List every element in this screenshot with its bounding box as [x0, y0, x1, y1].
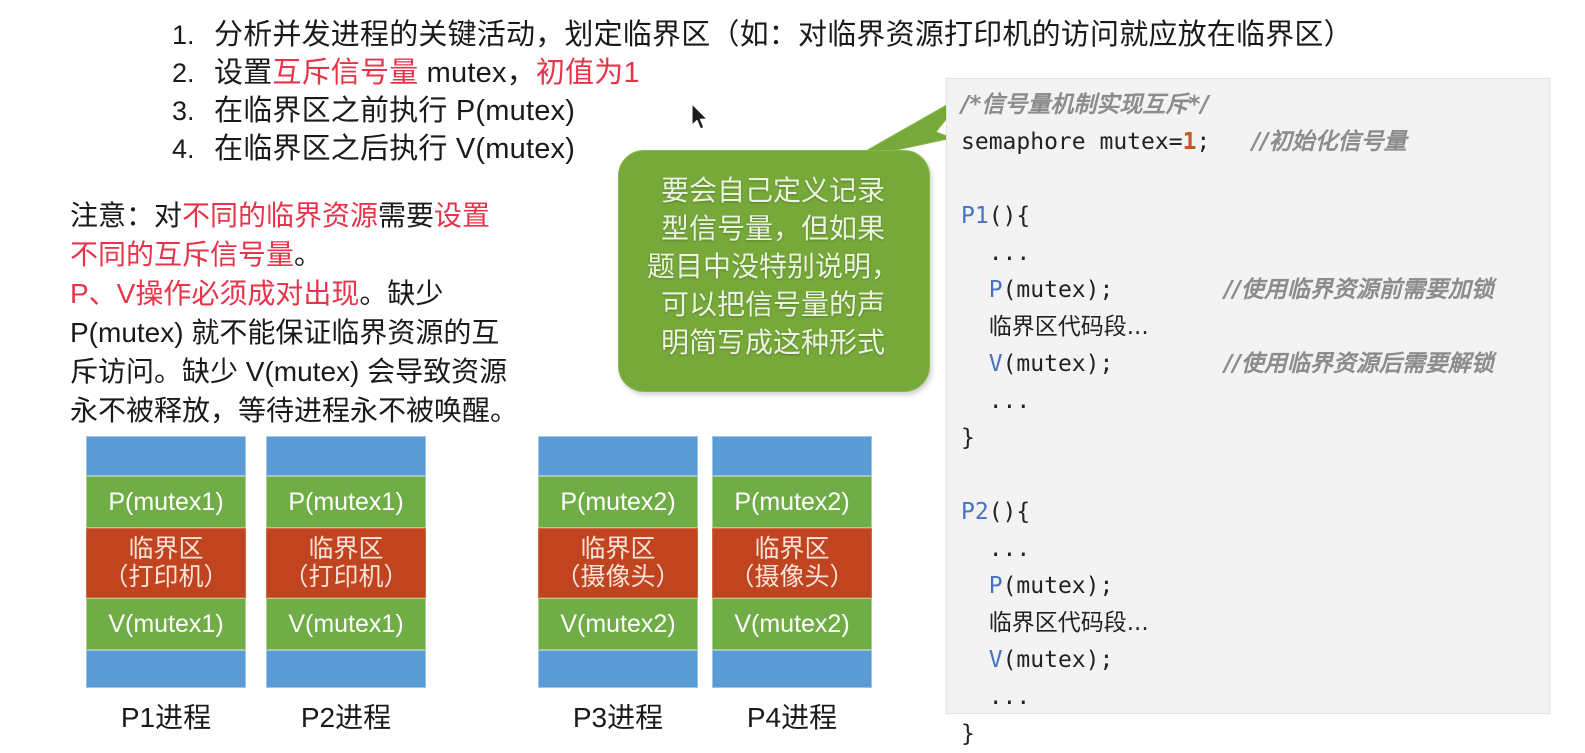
code-line-8: V(mutex); //使用临界资源后需要解锁 [961, 346, 1543, 383]
code-line-4: P1(){ [961, 198, 1543, 235]
step-text: 分析并发进程的关键活动，划定临界区（如：对临界资源打印机的访问就应放在临界区） [214, 16, 1353, 54]
code-line-16: V(mutex); [961, 642, 1543, 679]
step-item-3: 3.在临界区之前执行 P(mutex) [172, 92, 942, 130]
code-line-14: P(mutex); [961, 568, 1543, 605]
process-caption: P4进程 [712, 696, 872, 736]
step-number: 1. [172, 16, 214, 54]
step-text: 设置互斥信号量 mutex，初值为1 [214, 54, 640, 92]
callout-line-1: 要会自己定义记录 [618, 172, 928, 210]
step-number: 4. [172, 130, 214, 168]
process-band-green: P(mutex2) [538, 476, 698, 528]
bottom-watermark [1255, 731, 1585, 750]
process-band-blue [538, 436, 698, 476]
code-line-12: P2(){ [961, 494, 1543, 531]
code-line-9: ... [961, 383, 1543, 420]
process-band-green: V(mutex2) [538, 598, 698, 650]
band-label: V(mutex1) [108, 610, 223, 638]
process-band-blue [538, 650, 698, 688]
process-band-blue [712, 436, 872, 476]
process-column-1: P(mutex1)临界区（打印机）V(mutex1)P1进程 [86, 436, 246, 688]
code-line-13: ... [961, 531, 1543, 568]
band-label: 临界区（摄像头） [555, 535, 680, 591]
process-band-green: V(mutex2) [712, 598, 872, 650]
process-band-blue [712, 650, 872, 688]
band-label: P(mutex1) [288, 488, 403, 516]
process-caption: P1进程 [86, 696, 246, 736]
band-label: 临界区（摄像头） [729, 535, 854, 591]
code-line-15: 临界区代码段... [961, 605, 1543, 642]
process-band-green: V(mutex1) [86, 598, 246, 650]
process-band-blue [266, 650, 426, 688]
note-paragraph: 注意：对不同的临界资源需要设置不同的互斥信号量。P、V操作必须成对出现。缺少P(… [70, 196, 590, 430]
code-line-11 [961, 457, 1543, 494]
process-diagram: P(mutex1)临界区（打印机）V(mutex1)P1进程P(mutex1)临… [0, 436, 940, 736]
band-label: P(mutex2) [734, 488, 849, 516]
step-text: 在临界区之前执行 P(mutex) [214, 92, 575, 130]
process-column-2: P(mutex1)临界区（打印机）V(mutex1)P2进程 [266, 436, 426, 688]
process-band-crit: 临界区（摄像头） [712, 528, 872, 598]
step-item-1: 1.分析并发进程的关键活动，划定临界区（如：对临界资源打印机的访问就应放在临界区… [172, 16, 942, 54]
code-line-1: /*信号量机制实现互斥*/ [961, 87, 1543, 124]
code-line-10: } [961, 420, 1543, 457]
step-item-2: 2.设置互斥信号量 mutex，初值为1 [172, 54, 942, 92]
band-label: 临界区（打印机） [283, 535, 408, 591]
green-callout-bubble: 要会自己定义记录型信号量，但如果题目中没特别说明，可以把信号量的声明简写成这种形… [618, 150, 928, 390]
callout-line-4: 可以把信号量的声 [618, 286, 928, 324]
process-band-crit: 临界区（打印机） [266, 528, 426, 598]
step-text: 在临界区之后执行 V(mutex) [214, 130, 575, 168]
slide-canvas: 1.分析并发进程的关键活动，划定临界区（如：对临界资源打印机的访问就应放在临界区… [0, 0, 1585, 750]
code-line-6: P(mutex); //使用临界资源前需要加锁 [961, 272, 1543, 309]
band-label: V(mutex2) [734, 610, 849, 638]
callout-line-3: 题目中没特别说明， [618, 248, 928, 286]
code-line-2: semaphore mutex=1; //初始化信号量 [961, 124, 1543, 161]
code-line-3 [961, 161, 1543, 198]
process-band-green: P(mutex1) [86, 476, 246, 528]
band-label: V(mutex2) [560, 610, 675, 638]
process-band-blue [266, 436, 426, 476]
note-line-4: P(mutex) 就不能保证临界资源的互 [70, 313, 590, 352]
process-band-green: P(mutex1) [266, 476, 426, 528]
band-label: P(mutex1) [108, 488, 223, 516]
process-band-crit: 临界区（摄像头） [538, 528, 698, 598]
code-panel: /*信号量机制实现互斥*/semaphore mutex=1; //初始化信号量… [946, 78, 1550, 714]
process-band-blue [86, 650, 246, 688]
code-line-17: ... [961, 679, 1543, 716]
callout-line-2: 型信号量，但如果 [618, 210, 928, 248]
callout-text: 要会自己定义记录型信号量，但如果题目中没特别说明，可以把信号量的声明简写成这种形… [618, 172, 928, 362]
note-line-3: P、V操作必须成对出现。缺少 [70, 274, 590, 313]
band-label: V(mutex1) [288, 610, 403, 638]
process-band-green: V(mutex1) [266, 598, 426, 650]
mouse-pointer-icon [690, 103, 710, 131]
process-caption: P2进程 [266, 696, 426, 736]
process-band-blue [86, 436, 246, 476]
code-lines: /*信号量机制实现互斥*/semaphore mutex=1; //初始化信号量… [961, 87, 1543, 753]
code-line-7: 临界区代码段... [961, 309, 1543, 346]
step-number: 2. [172, 54, 214, 92]
note-line-5: 斥访问。缺少 V(mutex) 会导致资源 [70, 352, 590, 391]
process-band-green: P(mutex2) [712, 476, 872, 528]
note-line-6: 永不被释放，等待进程永不被唤醒。 [70, 391, 590, 430]
note-line-2: 不同的互斥信号量。 [70, 235, 590, 274]
callout-line-5: 明简写成这种形式 [618, 324, 928, 362]
step-number: 3. [172, 92, 214, 130]
process-band-crit: 临界区（打印机） [86, 528, 246, 598]
numbered-steps-list: 1.分析并发进程的关键活动，划定临界区（如：对临界资源打印机的访问就应放在临界区… [172, 16, 942, 168]
process-column-4: P(mutex2)临界区（摄像头）V(mutex2)P4进程 [712, 436, 872, 688]
band-label: 临界区（打印机） [103, 535, 228, 591]
code-line-5: ... [961, 235, 1543, 272]
process-caption: P3进程 [538, 696, 698, 736]
process-column-3: P(mutex2)临界区（摄像头）V(mutex2)P3进程 [538, 436, 698, 688]
band-label: P(mutex2) [560, 488, 675, 516]
note-line-1: 注意：对不同的临界资源需要设置 [70, 196, 590, 235]
